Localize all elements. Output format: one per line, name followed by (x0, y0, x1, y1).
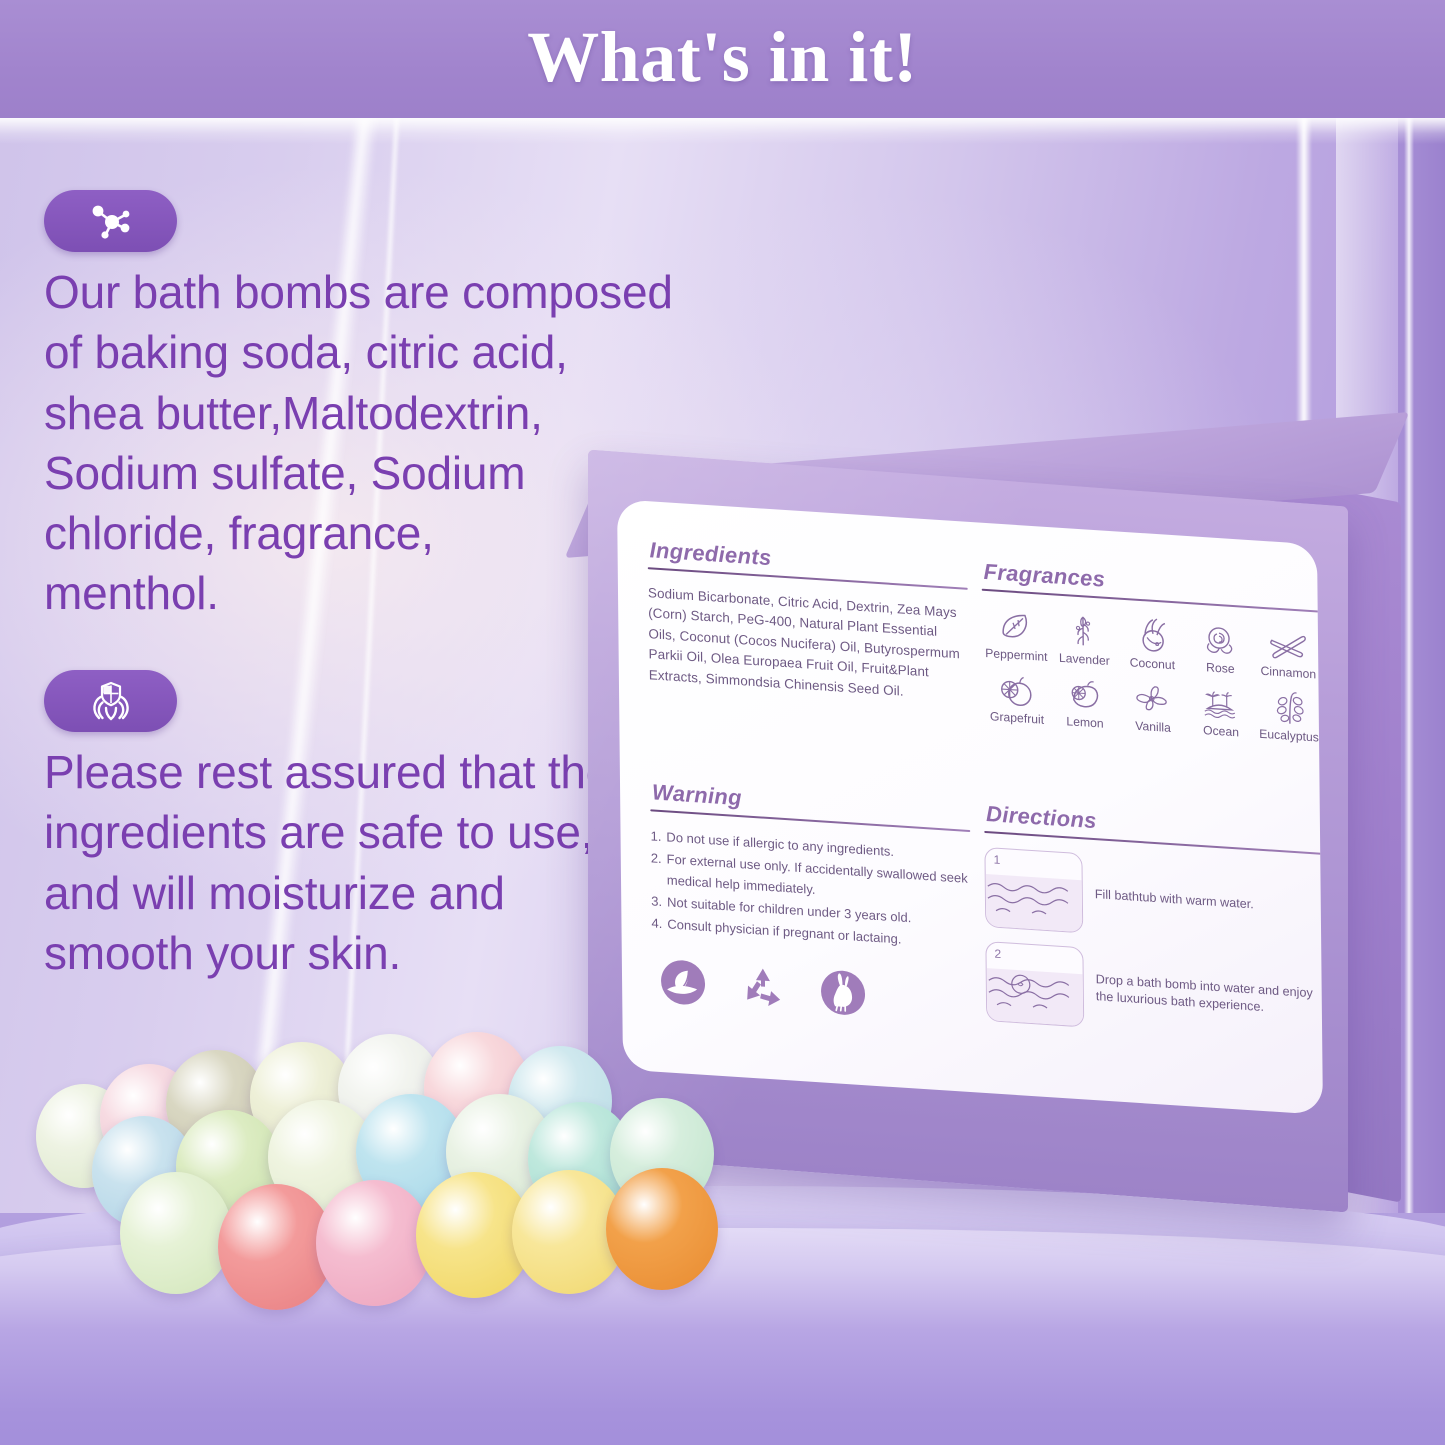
fragrance-label: Grapefruit (990, 709, 1044, 727)
direction-step: 2Drop a bath bomb into water and enjoy t… (985, 941, 1323, 1043)
warning-number: 4. (651, 913, 662, 935)
ingredients-body: Sodium Bicarbonate, Citric Acid, Dextrin… (648, 583, 969, 706)
fragrance-label: Vanilla (1135, 719, 1171, 735)
cinnamon-sticks-icon (1264, 623, 1312, 666)
section-ingredients: Ingredients Sodium Bicarbonate, Citric A… (647, 537, 969, 780)
feature-badge-safety (44, 670, 177, 732)
fragrance-item: Grapefruit (983, 668, 1052, 727)
fragrance-item: Cinnamon (1254, 622, 1323, 681)
cruelty-free-rabbit-icon (818, 966, 869, 1019)
direction-number: 2 (994, 947, 1001, 961)
grapefruit-icon (993, 668, 1041, 711)
fragrance-item: Ocean (1187, 681, 1256, 740)
header-banner: What's in it! (0, 0, 1445, 118)
fragrance-label: Cinnamon (1261, 664, 1317, 682)
bath-bomb (316, 1180, 432, 1306)
fragrance-item: Lavender (1050, 609, 1119, 668)
bath-bomb (120, 1172, 232, 1294)
bath-bomb (606, 1168, 718, 1290)
peppermint-leaf-icon (992, 605, 1040, 648)
product-infographic: What's in it! Our bath bombs are compose… (0, 0, 1445, 1445)
certification-icons (652, 956, 973, 1027)
fragrance-item: Lemon (1051, 672, 1120, 731)
lavender-sprig-icon (1060, 610, 1108, 653)
fragrance-item: Vanilla (1119, 677, 1188, 736)
fragrance-item: Rose (1186, 618, 1255, 677)
page-title: What's in it! (527, 16, 918, 99)
direction-number: 1 (993, 853, 1000, 867)
fragrance-label: Coconut (1130, 655, 1176, 672)
coconut-icon (1128, 614, 1176, 657)
direction-step: 1Fill bathtub with warm water. (984, 847, 1323, 949)
natural-leaf-icon (658, 956, 709, 1009)
bath-bombs-group (0, 1020, 760, 1310)
hands-shield-icon (86, 680, 136, 722)
background-horizontal-band (0, 118, 1445, 144)
ocean-island-icon (1197, 682, 1245, 725)
recycle-icon (738, 961, 789, 1014)
feature-badge-ingredients (44, 190, 177, 252)
warning-list: 1.Do not use if allergic to any ingredie… (650, 825, 971, 954)
eucalyptus-branch-icon (1265, 686, 1313, 729)
warning-number: 3. (651, 891, 662, 913)
direction-text: Drop a bath bomb into water and enjoy th… (1096, 972, 1323, 1020)
section-fragrances: Fragrances PeppermintLavenderCoconutRose… (981, 559, 1323, 803)
fragrance-label: Ocean (1203, 723, 1239, 739)
fragrance-item: Eucalyptus (1255, 685, 1323, 744)
rose-icon (1196, 619, 1244, 662)
feature-text-safety: Please rest assured that the ingredients… (44, 742, 644, 983)
section-directions: Directions 1Fill bathtub with warm water… (984, 801, 1323, 1115)
fragrance-label: Lemon (1066, 714, 1103, 730)
fragrance-label: Rose (1206, 660, 1235, 676)
fragrance-label: Eucalyptus (1259, 727, 1319, 745)
molecule-icon (85, 201, 137, 241)
vanilla-flower-icon (1129, 677, 1177, 720)
warning-number: 1. (650, 825, 661, 847)
direction-text: Fill bathtub with warm water. (1095, 886, 1254, 913)
fragrance-item: Coconut (1118, 614, 1187, 673)
direction-illustration: 1 (984, 847, 1083, 933)
fragrance-item: Peppermint (982, 605, 1051, 664)
direction-illustration: 2 (985, 941, 1084, 1027)
fragrance-label: Peppermint (985, 646, 1047, 664)
lemon-icon (1061, 673, 1109, 716)
warning-number: 2. (651, 847, 662, 890)
fragrance-label: Lavender (1059, 651, 1110, 668)
